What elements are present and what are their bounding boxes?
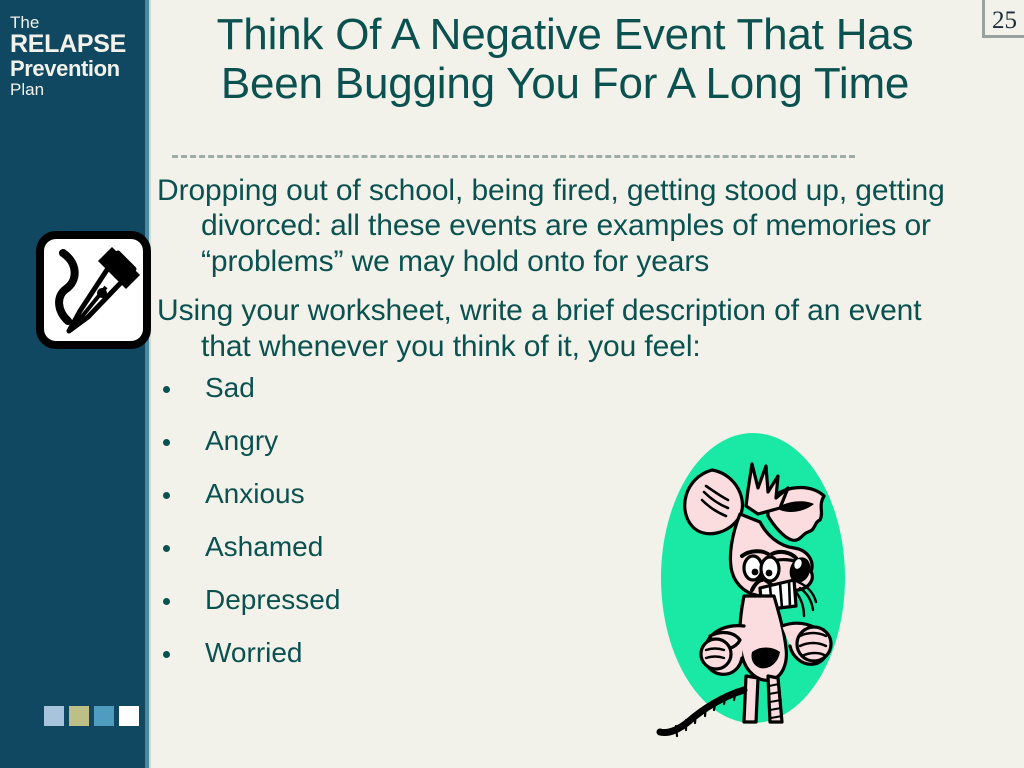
logo-line-prevention: Prevention	[10, 58, 142, 80]
page-number-value: 25	[992, 8, 1017, 33]
bullet-label: Worried	[205, 637, 303, 668]
pen-nib-icon	[36, 231, 151, 349]
bullet-dot-icon	[163, 492, 170, 499]
logo-line-plan: Plan	[10, 81, 142, 98]
slide-title: Think Of A Negative Event That Has Been …	[160, 10, 970, 109]
body-paragraph-2: Using your worksheet, write a brief desc…	[157, 293, 957, 364]
left-sidebar	[0, 0, 145, 768]
slide-title-line-1: Think Of A Negative Event That Has	[160, 10, 970, 59]
bullet-dot-icon	[163, 598, 170, 605]
bullet-dot-icon	[163, 545, 170, 552]
bullet-label: Ashamed	[205, 531, 323, 562]
color-swatch-row	[44, 706, 139, 726]
page-number-badge: 25	[982, 0, 1024, 38]
logo-line-relapse: RELAPSE	[10, 32, 142, 58]
swatch-light-blue	[44, 706, 64, 726]
bullet-label: Sad	[205, 372, 255, 403]
logo-line-the: The	[10, 14, 142, 31]
bullet-dot-icon	[163, 439, 170, 446]
slide-canvas: The RELAPSE Prevention Plan 25 Th	[0, 0, 1024, 768]
bullet-dot-icon	[163, 386, 170, 393]
bullet-dot-icon	[163, 651, 170, 658]
bullet-label: Anxious	[205, 478, 305, 509]
bullet-label: Angry	[205, 425, 278, 456]
brand-logo: The RELAPSE Prevention Plan	[10, 14, 142, 99]
body-paragraph-1: Dropping out of school, being fired, get…	[157, 173, 957, 279]
angry-cartoon-mouse-illustration	[648, 430, 866, 740]
list-item: Sad	[157, 378, 957, 431]
swatch-blue	[94, 706, 114, 726]
swatch-olive	[69, 706, 89, 726]
slide-title-line-2: Been Bugging You For A Long Time	[160, 59, 970, 108]
title-divider	[172, 155, 855, 158]
swatch-white	[119, 706, 139, 726]
sidebar-accent-stripe-light	[149, 0, 151, 768]
bullet-label: Depressed	[205, 584, 340, 615]
